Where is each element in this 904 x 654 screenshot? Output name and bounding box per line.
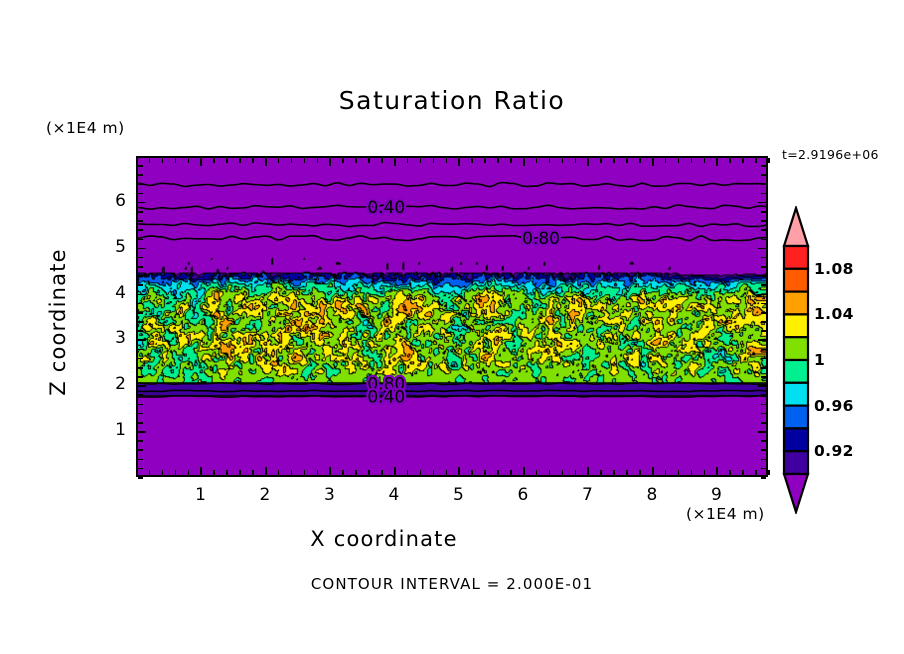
x-tick-top (407, 158, 409, 163)
x-tick-bottom (239, 470, 241, 475)
x-tick-top (626, 158, 628, 163)
x-tick-top (575, 158, 577, 163)
x-tick-bottom (691, 470, 693, 475)
x-tick-label: 5 (438, 485, 478, 505)
colorbar-swatches (781, 206, 811, 514)
z-tick-right (761, 440, 766, 442)
z-tick-left (138, 385, 146, 387)
z-tick-right (761, 330, 766, 332)
z-tick-left (138, 239, 143, 241)
x-tick-label: 2 (245, 485, 285, 505)
z-tick-right (761, 220, 766, 222)
z-tick-label: 1 (86, 420, 126, 440)
z-tick-left (138, 284, 143, 286)
x-tick-bottom (317, 470, 319, 475)
z-tick-left (138, 477, 143, 479)
time-annotation: t=2.9196e+06 (782, 147, 879, 162)
x-tick-bottom (471, 470, 473, 475)
z-tick-left (138, 394, 143, 396)
z-tick-right (758, 248, 766, 250)
z-tick-left (138, 266, 143, 268)
z-tick-right (761, 193, 766, 195)
z-tick-right (761, 184, 766, 186)
z-tick-right (761, 404, 766, 406)
x-tick-bottom (188, 470, 190, 475)
z-tick-right (761, 239, 766, 241)
x-tick-bottom (639, 470, 641, 475)
x-tick-bottom (368, 470, 370, 475)
z-tick-left (138, 211, 143, 213)
contour-value-label: 0.40 (367, 387, 405, 407)
x-tick-top (510, 158, 512, 163)
contour-value-label: 0.40 (367, 198, 405, 218)
x-tick-bottom (407, 470, 409, 475)
x-tick-top (420, 158, 422, 163)
x-tick-top (768, 158, 770, 163)
x-tick-top (355, 158, 357, 163)
z-tick-right (761, 459, 766, 461)
x-tick-top (200, 158, 202, 166)
x-tick-top (729, 158, 731, 163)
x-tick-top (149, 158, 151, 163)
x-tick-bottom (678, 470, 680, 475)
x-tick-top (226, 158, 228, 163)
z-tick-right (758, 385, 766, 387)
x-tick-bottom (226, 470, 228, 475)
x-tick-bottom (213, 470, 215, 475)
x-tick-bottom (329, 467, 331, 475)
x-tick-top (368, 158, 370, 163)
x-tick-top (136, 158, 138, 163)
x-tick-top (252, 158, 254, 163)
z-tick-right (761, 156, 766, 158)
x-tick-top (613, 158, 615, 163)
x-tick-top (755, 158, 757, 163)
x-tick-bottom (704, 470, 706, 475)
x-tick-top (523, 158, 525, 166)
x-tick-top (278, 158, 280, 163)
z-tick-right (761, 165, 766, 167)
contour-line (138, 236, 768, 241)
z-tick-left (138, 275, 143, 277)
z-tick-left (138, 339, 146, 341)
z-tick-left (138, 367, 143, 369)
colorbar-tick-label: 0.96 (814, 397, 854, 415)
x-tick-bottom (510, 470, 512, 475)
x-tick-top (381, 158, 383, 163)
x-tick-bottom (768, 470, 770, 475)
x-tick-top (549, 158, 551, 163)
x-tick-bottom (394, 467, 396, 475)
z-tick-left (138, 303, 143, 305)
x-tick-label: 4 (374, 485, 414, 505)
x-tick-bottom (755, 470, 757, 475)
y-axis-unit-label: (×1E4 m) (46, 119, 125, 137)
x-tick-top (239, 158, 241, 163)
x-tick-bottom (200, 467, 202, 475)
z-tick-label: 4 (86, 283, 126, 303)
z-tick-right (761, 376, 766, 378)
x-tick-top (600, 158, 602, 163)
z-tick-left (138, 229, 143, 231)
x-tick-bottom (626, 470, 628, 475)
x-tick-top (291, 158, 293, 163)
x-tick-bottom (562, 470, 564, 475)
x-tick-bottom (446, 470, 448, 475)
z-tick-left (138, 413, 143, 415)
z-tick-right (761, 303, 766, 305)
z-tick-right (761, 266, 766, 268)
z-tick-right (761, 394, 766, 396)
x-tick-bottom (484, 470, 486, 475)
x-tick-bottom (575, 470, 577, 475)
z-tick-left (138, 459, 143, 461)
x-tick-top (265, 158, 267, 166)
z-tick-label: 5 (86, 237, 126, 257)
x-tick-top (639, 158, 641, 163)
x-tick-bottom (716, 467, 718, 475)
x-tick-top (562, 158, 564, 163)
x-tick-top (175, 158, 177, 163)
contour-plot-area: 0.400.800.800.40 (136, 156, 768, 477)
z-tick-left (138, 440, 143, 442)
x-tick-top (317, 158, 319, 163)
x-tick-bottom (162, 470, 164, 475)
x-tick-top (458, 158, 460, 166)
x-tick-top (162, 158, 164, 163)
colorbar (781, 206, 811, 514)
z-tick-left (138, 248, 146, 250)
x-tick-top (433, 158, 435, 163)
x-tick-bottom (587, 467, 589, 475)
x-tick-top (716, 158, 718, 166)
x-tick-top (665, 158, 667, 163)
x-tick-top (704, 158, 706, 163)
x-tick-bottom (355, 470, 357, 475)
x-tick-top (484, 158, 486, 163)
x-tick-label: 9 (696, 485, 736, 505)
contour-interval-caption: CONTOUR INTERVAL = 2.000E-01 (0, 575, 904, 593)
z-tick-right (761, 312, 766, 314)
x-tick-top (691, 158, 693, 163)
x-tick-bottom (665, 470, 667, 475)
x-tick-label: 6 (503, 485, 543, 505)
x-tick-bottom (278, 470, 280, 475)
z-tick-right (761, 468, 766, 470)
x-tick-bottom (433, 470, 435, 475)
page-title: Saturation Ratio (0, 86, 904, 115)
contour-line (138, 183, 768, 187)
z-tick-left (138, 330, 143, 332)
colorbar-tick-label: 0.92 (814, 442, 854, 460)
z-tick-left (138, 404, 143, 406)
z-tick-label: 6 (86, 191, 126, 211)
x-tick-top (652, 158, 654, 166)
x-tick-top (329, 158, 331, 166)
x-tick-top (188, 158, 190, 163)
z-tick-right (761, 257, 766, 259)
z-tick-left (138, 376, 143, 378)
z-tick-left (138, 358, 143, 360)
x-tick-label: 1 (180, 485, 220, 505)
x-tick-bottom (420, 470, 422, 475)
z-tick-right (758, 294, 766, 296)
x-tick-bottom (136, 470, 138, 475)
x-tick-bottom (304, 470, 306, 475)
x-axis-unit-label: (×1E4 m) (686, 505, 765, 523)
x-tick-bottom (523, 467, 525, 475)
z-tick-left (138, 193, 143, 195)
x-tick-top (536, 158, 538, 163)
y-axis-title: Z coordinate (46, 202, 70, 442)
contour-line (138, 383, 768, 385)
z-tick-left (138, 165, 143, 167)
z-tick-left (138, 220, 143, 222)
x-tick-top (742, 158, 744, 163)
colorbar-tick-label: 1.08 (814, 260, 854, 278)
x-tick-top (471, 158, 473, 163)
z-tick-right (758, 431, 766, 433)
x-tick-bottom (252, 470, 254, 475)
z-tick-left (138, 294, 146, 296)
x-tick-bottom (291, 470, 293, 475)
x-tick-bottom (381, 470, 383, 475)
z-tick-right (761, 349, 766, 351)
contour-line (138, 396, 768, 397)
z-tick-right (761, 321, 766, 323)
x-tick-top (678, 158, 680, 163)
x-tick-top (394, 158, 396, 166)
x-tick-bottom (265, 467, 267, 475)
z-tick-right (758, 202, 766, 204)
x-tick-bottom (600, 470, 602, 475)
x-tick-label: 8 (632, 485, 672, 505)
x-tick-bottom (342, 470, 344, 475)
x-tick-top (213, 158, 215, 163)
z-tick-right (761, 413, 766, 415)
contour-value-label: 0.80 (522, 229, 560, 249)
x-tick-bottom (458, 467, 460, 475)
z-tick-label: 2 (86, 374, 126, 394)
z-tick-left (138, 431, 146, 433)
z-tick-label: 3 (86, 328, 126, 348)
x-axis-title: X coordinate (0, 527, 768, 551)
z-tick-right (761, 174, 766, 176)
z-tick-left (138, 449, 143, 451)
z-tick-left (138, 174, 143, 176)
z-tick-left (138, 349, 143, 351)
x-tick-top (446, 158, 448, 163)
z-tick-right (761, 211, 766, 213)
z-tick-right (761, 449, 766, 451)
x-tick-bottom (652, 467, 654, 475)
z-tick-right (758, 339, 766, 341)
z-tick-left (138, 257, 143, 259)
colorbar-tick-label: 1.04 (814, 305, 854, 323)
z-tick-left (138, 202, 146, 204)
colorbar-tick-label: 1 (814, 351, 825, 369)
contour-line (138, 205, 768, 209)
x-tick-bottom (497, 470, 499, 475)
x-tick-bottom (742, 470, 744, 475)
z-tick-right (761, 422, 766, 424)
x-tick-label: 7 (567, 485, 607, 505)
x-tick-label: 3 (309, 485, 349, 505)
z-tick-left (138, 184, 143, 186)
z-tick-right (761, 275, 766, 277)
x-tick-bottom (149, 470, 151, 475)
contour-line (138, 223, 768, 227)
x-tick-bottom (536, 470, 538, 475)
contour-line (138, 390, 768, 391)
x-tick-bottom (729, 470, 731, 475)
contour-line-overlay: 0.400.800.800.40 (138, 158, 768, 477)
z-tick-right (761, 229, 766, 231)
x-tick-top (304, 158, 306, 163)
z-tick-left (138, 312, 143, 314)
x-tick-bottom (613, 470, 615, 475)
z-tick-left (138, 422, 143, 424)
x-tick-top (342, 158, 344, 163)
z-tick-right (761, 358, 766, 360)
x-tick-top (497, 158, 499, 163)
x-tick-bottom (549, 470, 551, 475)
x-tick-bottom (175, 470, 177, 475)
z-tick-right (761, 477, 766, 479)
x-tick-top (587, 158, 589, 166)
z-tick-left (138, 156, 143, 158)
z-tick-left (138, 321, 143, 323)
z-tick-left (138, 468, 143, 470)
z-tick-right (761, 284, 766, 286)
z-tick-right (761, 367, 766, 369)
